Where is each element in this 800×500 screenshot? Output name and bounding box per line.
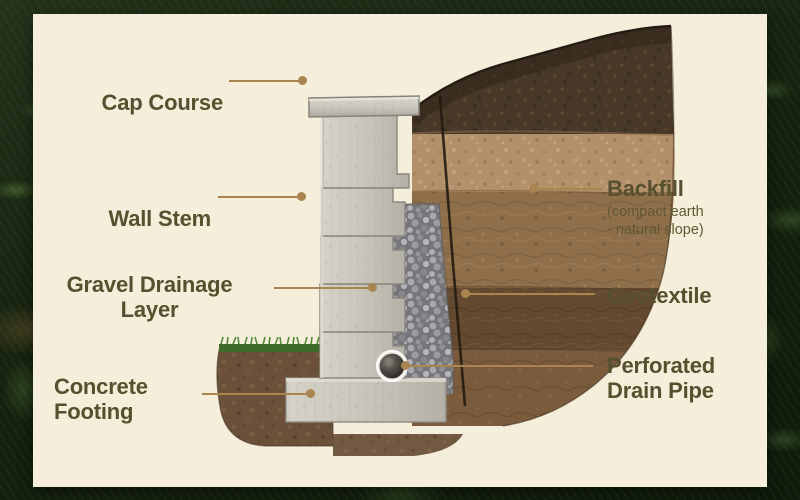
leader-dot-gravel xyxy=(368,283,377,292)
label-backfill: Backfill (compact earth - natural slope) xyxy=(607,176,767,240)
diagram-stage: Cap Course Wall Stem Gravel Drainage Lay… xyxy=(0,0,800,500)
label-concrete-footing-title: Concrete Footing xyxy=(54,374,216,424)
leader-geotextile xyxy=(465,293,595,295)
leader-dot-footing xyxy=(306,389,315,398)
soil-under-footing xyxy=(333,434,463,456)
leader-dot-wall-stem xyxy=(297,192,306,201)
label-gravel-drainage-title: Gravel Drainage Layer xyxy=(33,272,266,322)
diagram-panel: Cap Course Wall Stem Gravel Drainage Lay… xyxy=(33,14,767,487)
label-wall-stem: Wall Stem xyxy=(33,206,211,231)
label-cap-course-title: Cap Course xyxy=(33,90,223,115)
label-cap-course: Cap Course xyxy=(33,90,223,115)
label-concrete-footing: Concrete Footing xyxy=(33,374,216,424)
leader-drain-pipe xyxy=(405,365,593,367)
label-drain-pipe: Perforated Drain Pipe xyxy=(607,353,767,403)
leader-dot-cap-course xyxy=(298,76,307,85)
label-geotextile: Geotextile xyxy=(607,283,767,308)
label-wall-stem-title: Wall Stem xyxy=(33,206,211,231)
label-geotextile-title: Geotextile xyxy=(607,283,767,308)
leader-dot-backfill xyxy=(529,184,538,193)
label-backfill-title: Backfill xyxy=(607,176,767,201)
leader-backfill xyxy=(533,188,602,190)
grass-strip xyxy=(219,344,333,352)
leader-dot-geotextile xyxy=(461,289,470,298)
cap-course-block xyxy=(309,96,419,117)
leader-gravel xyxy=(274,287,374,289)
leader-wall-stem xyxy=(218,196,303,198)
leader-footing xyxy=(202,393,312,395)
concrete-footing xyxy=(286,378,446,422)
label-drain-pipe-title: Perforated Drain Pipe xyxy=(607,353,767,403)
label-gravel-drainage: Gravel Drainage Layer xyxy=(33,272,266,322)
leader-dot-drain-pipe xyxy=(401,361,410,370)
leader-cap-course xyxy=(229,80,304,82)
label-backfill-subtitle: (compact earth - natural slope) xyxy=(607,203,767,240)
